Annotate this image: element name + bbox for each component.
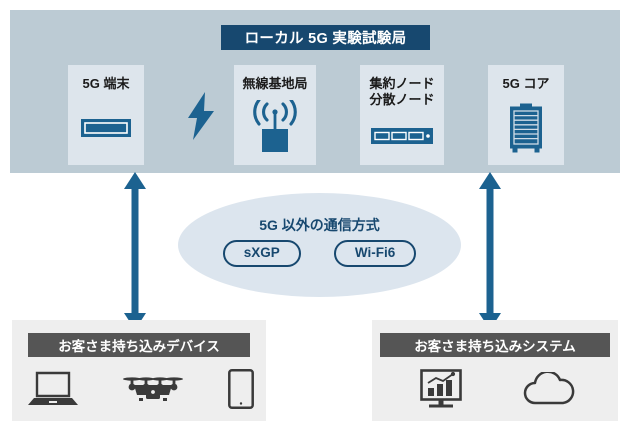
laptop-icon — [28, 371, 78, 412]
node-label-5g-terminal: 5G 端末 — [83, 76, 130, 92]
modem-device-icon — [68, 92, 144, 165]
node-box-radio-base-station: 無線基地局 — [234, 65, 316, 165]
network-switch-icon — [360, 108, 444, 165]
cloud-icon — [522, 372, 576, 411]
lightning-bolt-icon — [184, 92, 218, 140]
node-box-aggregation-distribution-node: 集約ノード 分散ノード — [360, 65, 444, 165]
customer-systems-box: お客さま持ち込みシステム — [372, 320, 618, 421]
customer-systems-header: お客さま持ち込みシステム — [380, 333, 610, 357]
pill-wifi6[interactable]: Wi-Fi6 — [334, 240, 416, 267]
customer-systems-icon-row — [372, 366, 618, 416]
radio-base-station-icon — [234, 92, 316, 165]
technology-pill-row: sXGP Wi-Fi6 — [178, 240, 461, 267]
local-5g-trial-station-panel: ローカル 5G 実験試験局 5G 端末 無線基地局 — [10, 10, 620, 173]
node-label-aggregation-distribution-node: 集約ノード 分散ノード — [369, 76, 434, 108]
arrow-systems — [477, 172, 503, 330]
node-box-5g-core: 5G コア — [488, 65, 564, 165]
tablet-icon — [228, 369, 254, 414]
node-label-5g-core: 5G コア — [503, 76, 550, 92]
monitor-chart-icon — [420, 369, 462, 414]
customer-devices-box: お客さま持ち込みデバイス — [12, 320, 266, 421]
pill-sxgp[interactable]: sXGP — [223, 240, 301, 267]
drone-icon — [122, 374, 184, 409]
node-label-radio-base-station: 無線基地局 — [242, 76, 307, 92]
node-box-5g-terminal: 5G 端末 — [68, 65, 144, 165]
server-rack-icon — [488, 92, 564, 165]
panel-title-banner: ローカル 5G 実験試験局 — [221, 25, 430, 50]
customer-devices-icon-row — [12, 366, 266, 416]
diagram-canvas: ローカル 5G 実験試験局 5G 端末 無線基地局 — [0, 0, 630, 431]
oval-title: 5G 以外の通信方式 — [178, 215, 461, 235]
non-5g-communication-oval: 5G 以外の通信方式 sXGP Wi-Fi6 — [178, 193, 461, 297]
arrow-devices — [122, 172, 148, 330]
customer-devices-header: お客さま持ち込みデバイス — [28, 333, 250, 357]
